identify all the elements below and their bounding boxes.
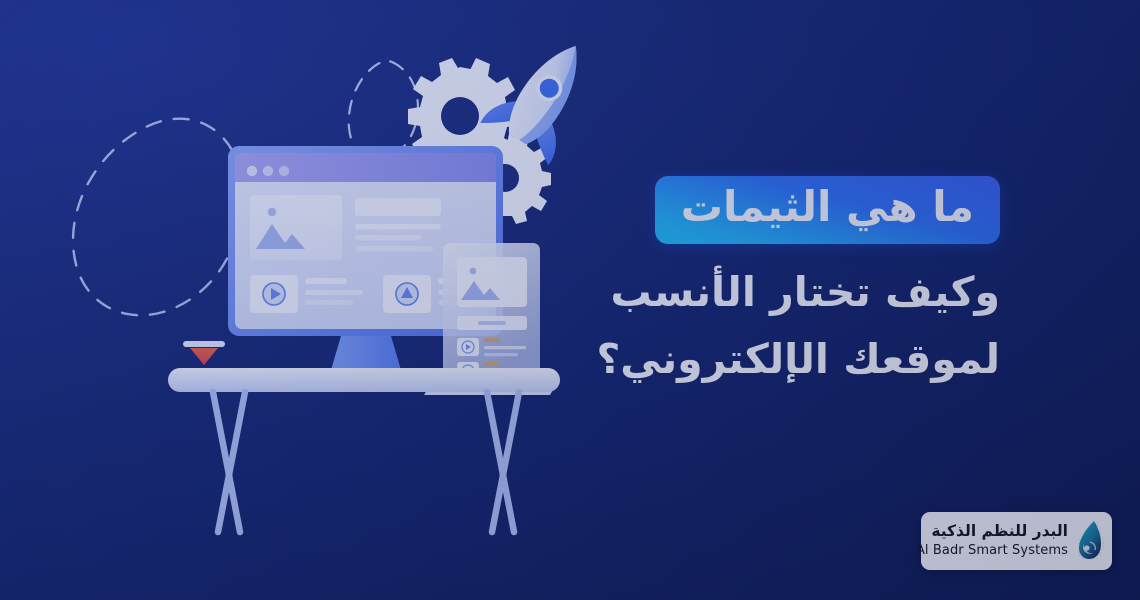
brand-name-english: Al Badr Smart Systems bbox=[916, 543, 1068, 559]
monitor-stand bbox=[331, 336, 401, 370]
play-icon-1 bbox=[262, 282, 286, 306]
desk-leg-left bbox=[213, 392, 245, 532]
brand-mark-icon bbox=[1072, 518, 1106, 564]
headline-line-2: لموقعك الإلكتروني؟ bbox=[440, 333, 1000, 386]
brand-logo: البدر للنظم الذكية Al Badr Smart Systems bbox=[921, 512, 1112, 570]
banner-canvas: ما هي الثيمات وكيف تختار الأنسب لموقعك ا… bbox=[0, 0, 1140, 600]
brand-logo-text: البدر للنظم الذكية Al Badr Smart Systems bbox=[916, 523, 1068, 559]
desk-leg-right bbox=[487, 392, 519, 532]
dashed-loop-large-icon bbox=[73, 119, 241, 316]
headline-line-1: وكيف تختار الأنسب bbox=[440, 266, 1000, 319]
headline-block: ما هي الثيمات وكيف تختار الأنسب لموقعك ا… bbox=[440, 176, 1000, 386]
play-icon-2 bbox=[395, 282, 419, 306]
headline-badge: ما هي الثيمات bbox=[655, 176, 1000, 244]
brand-name-arabic: البدر للنظم الذكية bbox=[931, 523, 1068, 541]
